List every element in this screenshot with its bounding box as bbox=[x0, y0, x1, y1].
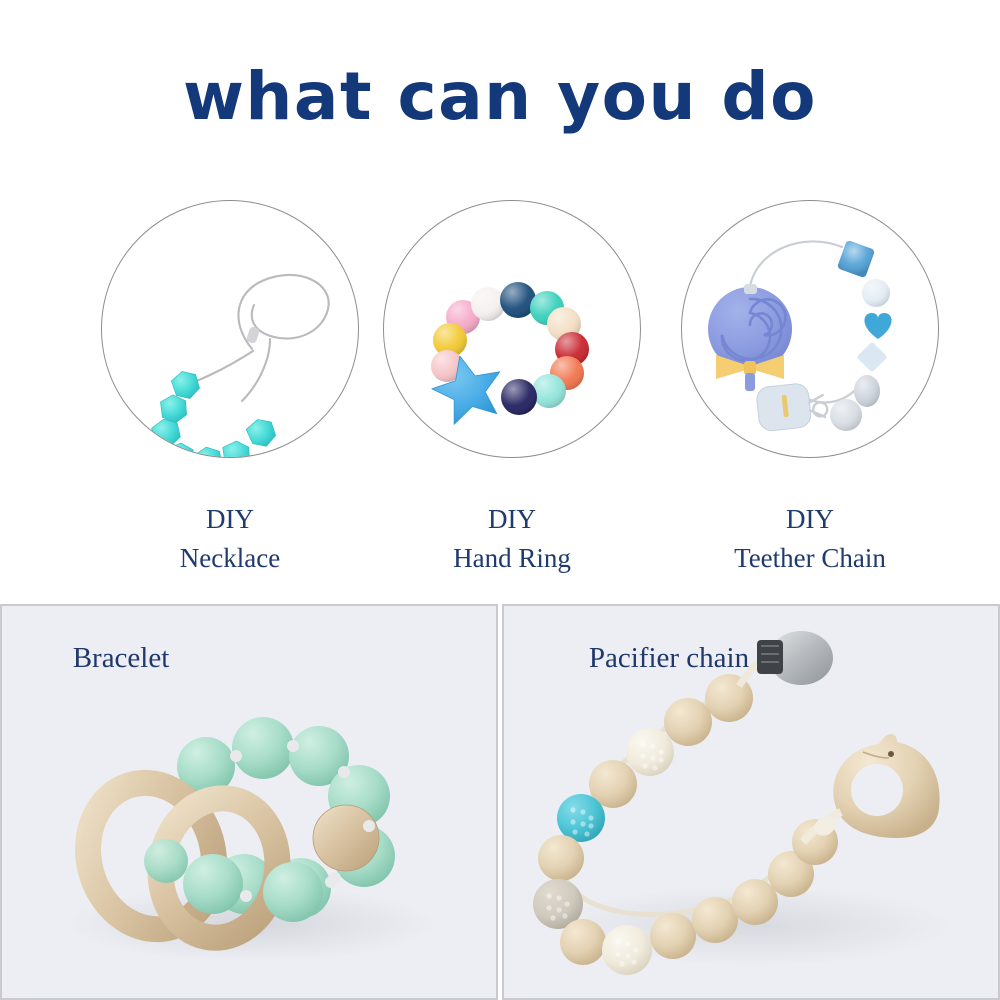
product-circle-teether-chain[interactable] bbox=[681, 200, 939, 458]
product-circle-hand-ring[interactable] bbox=[383, 200, 641, 458]
caption-necklace: DIY Necklace bbox=[80, 500, 380, 578]
caption-necklace-line2: Necklace bbox=[80, 539, 380, 578]
page-title: what can you do bbox=[0, 64, 1000, 130]
product-circle-necklace[interactable] bbox=[101, 200, 359, 458]
caption-hand-ring-line1: DIY bbox=[488, 504, 536, 534]
bottom-photo-row: Bracelet bbox=[0, 604, 1000, 1000]
circle-outline-teether-chain bbox=[681, 200, 939, 458]
hand-ring-illustration bbox=[384, 201, 640, 457]
photo-panel-bracelet[interactable]: Bracelet bbox=[0, 604, 498, 1000]
teether-chain-illustration bbox=[682, 201, 938, 457]
caption-teether-chain-line1: DIY bbox=[786, 504, 834, 534]
necklace-illustration bbox=[102, 201, 358, 457]
caption-teether-chain-line2: Teether Chain bbox=[660, 539, 960, 578]
top-section: what can you do bbox=[0, 0, 1000, 600]
caption-necklace-line1: DIY bbox=[206, 504, 254, 534]
photo-panel-pacifier-chain[interactable]: Pacifier chain bbox=[502, 604, 1000, 1000]
caption-teether-chain: DIY Teether Chain bbox=[660, 500, 960, 578]
circle-outline-hand-ring bbox=[383, 200, 641, 458]
caption-hand-ring: DIY Hand Ring bbox=[362, 500, 662, 578]
bracelet-photo bbox=[2, 606, 496, 998]
caption-hand-ring-line2: Hand Ring bbox=[362, 539, 662, 578]
circle-outline-necklace bbox=[101, 200, 359, 458]
pacifier-chain-photo bbox=[504, 606, 998, 998]
